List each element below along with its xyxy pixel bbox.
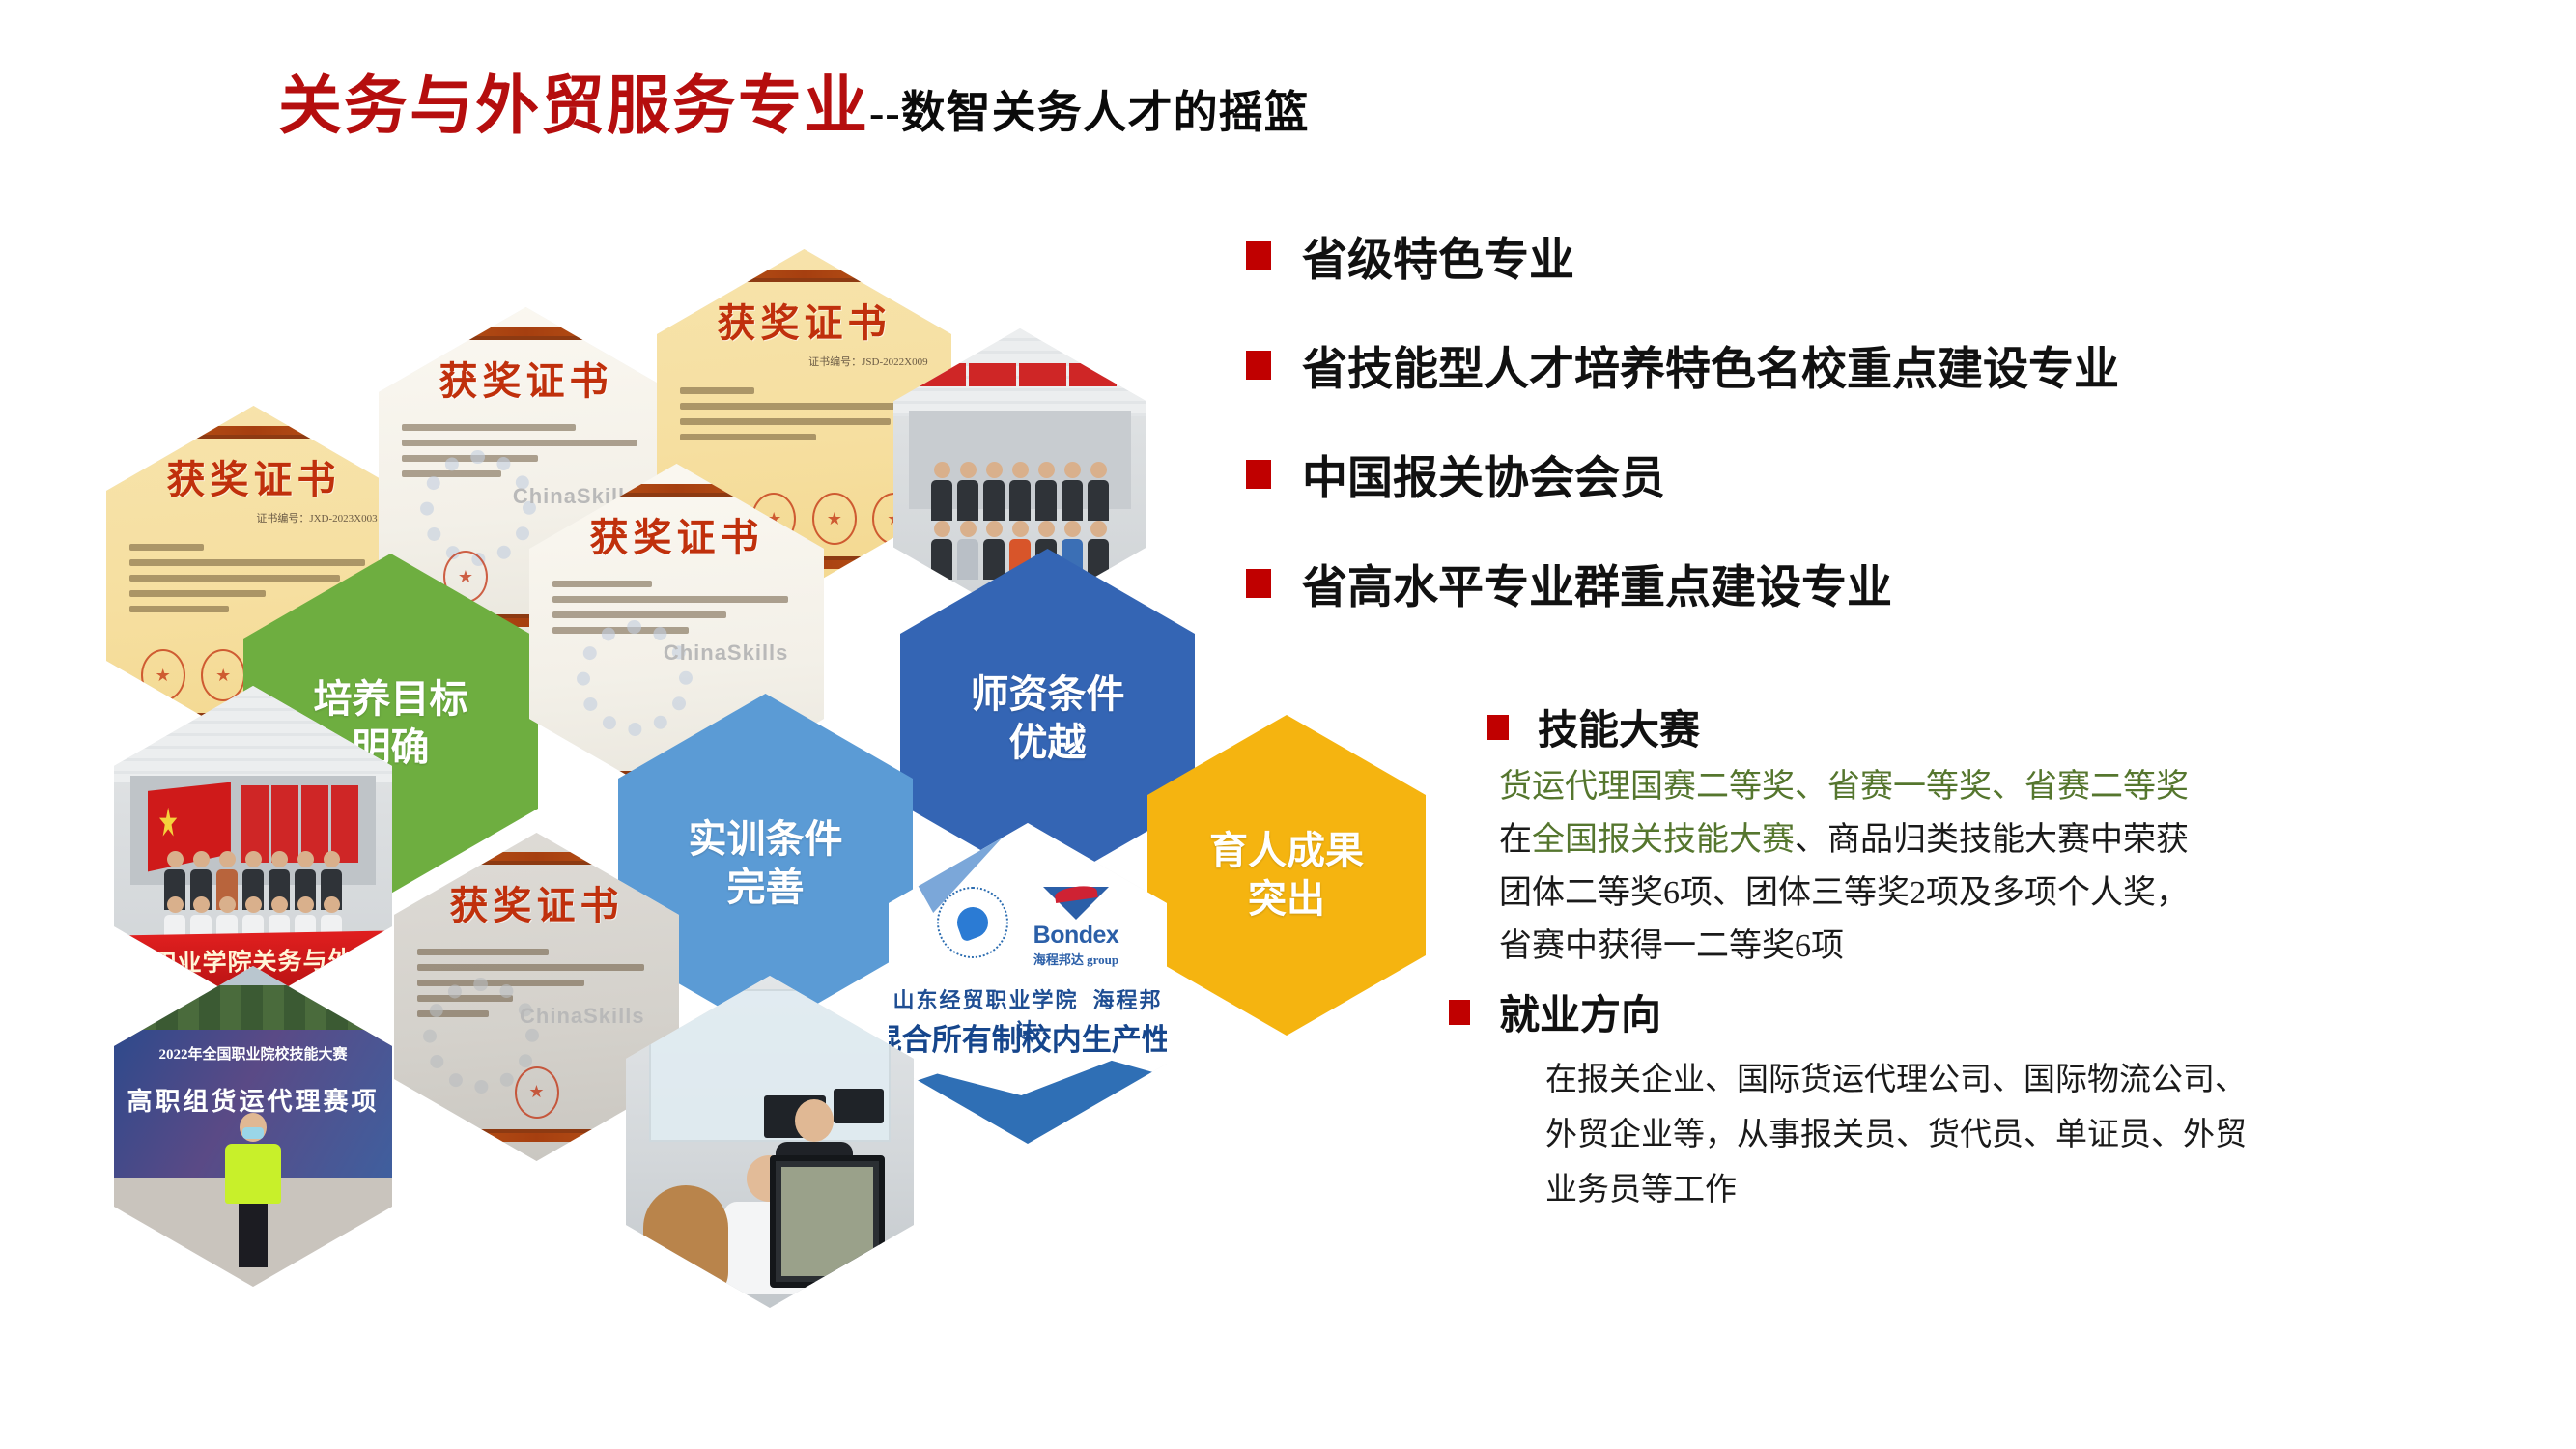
- highlight-label: 省高水平专业群重点建设专业: [1302, 550, 1892, 616]
- hex-talent-results-label: 育人成果 突出: [1147, 827, 1426, 923]
- section-line-pre: 在: [1499, 822, 1532, 858]
- cert-line: [552, 596, 787, 603]
- section-heading-row: 技能大赛: [1487, 697, 2576, 756]
- cert-title: 获奖证书: [402, 350, 649, 406]
- cert-code: 证书编号：JSD-2022X009: [680, 354, 927, 369]
- cert-body-lines: [552, 572, 800, 642]
- person: [957, 462, 978, 521]
- cert-code: 证书编号：JXD-2023X003: [129, 510, 377, 526]
- person: [983, 521, 1005, 580]
- hex-practice-cond-label: 实训条件 完善: [618, 815, 913, 912]
- training-base-logo-card: Bondex 海程邦达 group 山东经贸职业学院 海程邦达 混合所有制校内生…: [889, 823, 1167, 1144]
- bondex-sub-wordmark: 海程邦达 group: [1033, 950, 1119, 968]
- bullet-square-icon: [1246, 460, 1271, 489]
- cert-seal: [812, 493, 857, 545]
- cert-line: [680, 418, 891, 425]
- person: [931, 521, 952, 580]
- monitor-icon: [770, 1155, 885, 1289]
- cert-seal: [515, 1066, 559, 1119]
- section-line-highlight: 全国报关技能大赛: [1532, 822, 1795, 858]
- cert-title: 获奖证书: [680, 292, 927, 348]
- cert-line: [402, 440, 637, 446]
- slide-canvas: 关务与外贸服务专业--数智关务人才的摇篮 获奖证书 证书编号：JXD-2023X…: [0, 0, 2576, 1449]
- decor-wave-gold: [889, 1054, 1167, 1124]
- highlight-item: 中国报关协会会员: [1246, 440, 2576, 507]
- section-heading: 就业方向: [1499, 982, 1661, 1041]
- poster: [1069, 363, 1117, 386]
- bullet-square-icon: [1246, 351, 1271, 380]
- section-line: 在全国报关技能大赛、商品归类技能大赛中荣获: [1499, 813, 2576, 867]
- section-line: 外贸企业等，从事报关员、货代员、单证员、外贸: [1545, 1108, 2576, 1163]
- section-employment: 就业方向 在报关企业、国际货运代理公司、国际物流公司、 外贸企业等，从事报关员、…: [1487, 982, 2576, 1217]
- bullet-square-icon: [1487, 715, 1509, 740]
- cert-title: 获奖证书: [417, 874, 657, 930]
- student-figure: [225, 1113, 281, 1267]
- cert-line: [680, 403, 915, 410]
- cert-line: [402, 424, 575, 431]
- highlight-label: 省级特色专业: [1302, 222, 1574, 289]
- hex-logo-base: Bondex 海程邦达 group 山东经贸职业学院 海程邦达 混合所有制校内生…: [889, 823, 1167, 1144]
- cert-line: [129, 559, 364, 566]
- section-line: 货运代理国赛二等奖、省赛一等奖、省赛二等奖: [1499, 760, 2576, 813]
- highlight-item: 省技能型人才培养特色名校重点建设专业: [1246, 331, 2576, 398]
- person: [1062, 462, 1083, 521]
- cert-band-top: [379, 327, 673, 336]
- section-body: 在报关企业、国际货运代理公司、国际物流公司、 外贸企业等，从事报关员、货代员、单…: [1545, 1053, 2576, 1217]
- poster: [969, 363, 1016, 386]
- competition-title-line2: 高职组货运代理赛项: [114, 1082, 392, 1118]
- person: [957, 521, 978, 580]
- cert-title: 获奖证书: [552, 506, 800, 562]
- cert-line: [552, 611, 725, 618]
- person: [1088, 462, 1109, 521]
- cert-line: [129, 544, 204, 551]
- cert-band-top-thin: [106, 435, 401, 439]
- section-line: 业务员等工作: [1545, 1163, 2576, 1218]
- section-line-post: 、商品归类技能大赛中荣获: [1795, 822, 2189, 858]
- hex-faculty-cond-label: 师资条件 优越: [900, 670, 1195, 767]
- highlight-item: 省级特色专业: [1246, 222, 2576, 289]
- bondex-logo: Bondex 海程邦达 group: [1033, 887, 1119, 968]
- cert-seal: [201, 649, 245, 701]
- cert-seal: [141, 649, 185, 701]
- school-emblem-icon: [937, 887, 1008, 958]
- bullet-square-icon: [1246, 241, 1271, 270]
- cert-line: [680, 387, 754, 394]
- bondex-mark-icon: [1043, 887, 1109, 920]
- base-title: 混合所有制校内生产性实训基地: [889, 1015, 1167, 1059]
- cert-line: [417, 949, 549, 955]
- chinaskills-watermark: ChinaSkills: [520, 1004, 645, 1029]
- cert-band-top: [106, 426, 401, 435]
- student-figure: [643, 1185, 728, 1301]
- logo-row: Bondex 海程邦达 group: [889, 887, 1167, 968]
- cert-band-top-thin: [379, 336, 673, 340]
- cert-line: [417, 964, 644, 971]
- cert-seal-group: [420, 1066, 654, 1119]
- section-body: 货运代理国赛二等奖、省赛一等奖、省赛二等奖 在全国报关技能大赛、商品归类技能大赛…: [1499, 760, 2576, 973]
- highlight-item: 省高水平专业群重点建设专业: [1246, 550, 2576, 616]
- cert-body-lines: [680, 379, 927, 449]
- cert-band-top: [657, 270, 951, 278]
- highlights-list: 省级特色专业 省技能型人才培养特色名校重点建设专业 中国报关协会会员 省高水平专…: [1246, 222, 2576, 659]
- section-heading-row: 就业方向: [1449, 982, 2576, 1041]
- cert-line: [129, 575, 340, 582]
- person: [983, 462, 1005, 521]
- highlight-label: 中国报关协会会员: [1302, 440, 1665, 507]
- person: [1035, 462, 1057, 521]
- bondex-wordmark: Bondex: [1033, 922, 1119, 950]
- photo-people-row: [898, 462, 1142, 521]
- competition-photo: 2022年全国职业院校技能大赛 高职组货运代理赛项: [114, 966, 392, 1287]
- cert-line: [129, 606, 228, 612]
- cert-band-top-thin: [657, 278, 951, 282]
- hex-photo-competition: 2022年全国职业院校技能大赛 高职组货运代理赛项: [114, 966, 392, 1287]
- section-skills-competition: 技能大赛 货运代理国赛二等奖、省赛一等奖、省赛二等奖 在全国报关技能大赛、商品归…: [1487, 697, 2576, 973]
- cert-line: [129, 590, 266, 597]
- cert-line: [552, 581, 651, 587]
- cert-title: 获奖证书: [129, 448, 377, 504]
- chinaskills-watermark: ChinaSkills: [664, 640, 789, 666]
- section-heading: 技能大赛: [1538, 697, 1700, 756]
- section-line: 省赛中获得一二等奖6项: [1499, 920, 2576, 973]
- school-name: 山东经贸职业学院: [892, 988, 1078, 1012]
- poster: [1019, 363, 1066, 386]
- person: [931, 462, 952, 521]
- hexagon-cluster: 获奖证书 证书编号：JXD-2023X003: [0, 0, 1246, 1449]
- competition-title-line1: 2022年全国职业院校技能大赛: [114, 1043, 392, 1064]
- highlight-label: 省技能型人才培养特色名校重点建设专业: [1302, 331, 2119, 398]
- cert-line: [680, 434, 816, 440]
- photo-trees: [114, 985, 392, 1037]
- section-line: 团体二等奖6项、团体三等奖2项及多项个人奖，: [1499, 867, 2576, 920]
- person: [1009, 462, 1031, 521]
- person: [1088, 521, 1109, 580]
- bullet-square-icon: [1246, 569, 1271, 598]
- detail-sections: 技能大赛 货运代理国赛二等奖、省赛一等奖、省赛二等奖 在全国报关技能大赛、商品归…: [1487, 697, 2576, 1218]
- bullet-square-icon: [1449, 1000, 1470, 1025]
- section-line: 在报关企业、国际货运代理公司、国际物流公司、: [1545, 1053, 2576, 1108]
